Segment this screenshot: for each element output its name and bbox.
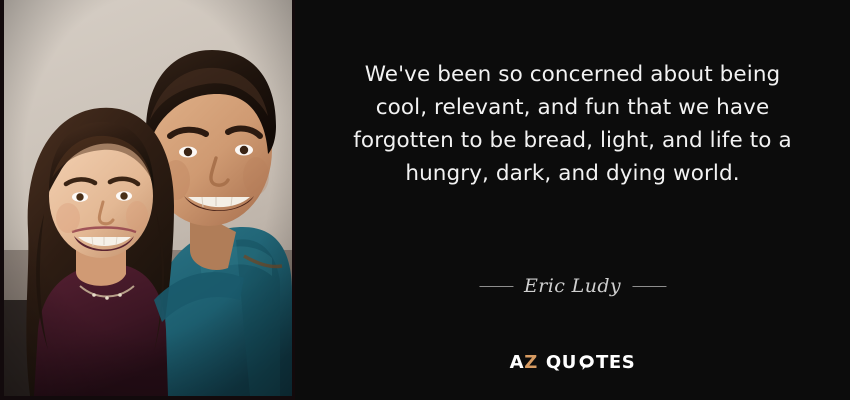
couple-photograph-illustration <box>4 0 292 396</box>
attribution-rule-right <box>632 286 666 287</box>
author-photo <box>4 0 292 396</box>
author-photo-panel <box>0 0 295 400</box>
logo-letters-tes: TES <box>596 352 635 373</box>
author-name: Eric Ludy <box>524 275 621 297</box>
logo-letter-q: Q <box>546 352 562 373</box>
azquotes-logo[interactable]: AZQU TES <box>510 352 636 373</box>
logo-letter-z: Z <box>524 352 538 373</box>
logo-letter-u: U <box>562 352 577 373</box>
attribution-rule-left <box>479 286 513 287</box>
quote-text: We've been so concerned about being cool… <box>338 58 808 190</box>
quote-card: We've been so concerned about being cool… <box>0 0 850 400</box>
speech-bubble-icon <box>578 354 595 371</box>
quote-text-panel: We've been so concerned about being cool… <box>295 0 850 400</box>
logo-letter-a: A <box>510 352 525 373</box>
attribution: Eric Ludy <box>479 275 666 297</box>
